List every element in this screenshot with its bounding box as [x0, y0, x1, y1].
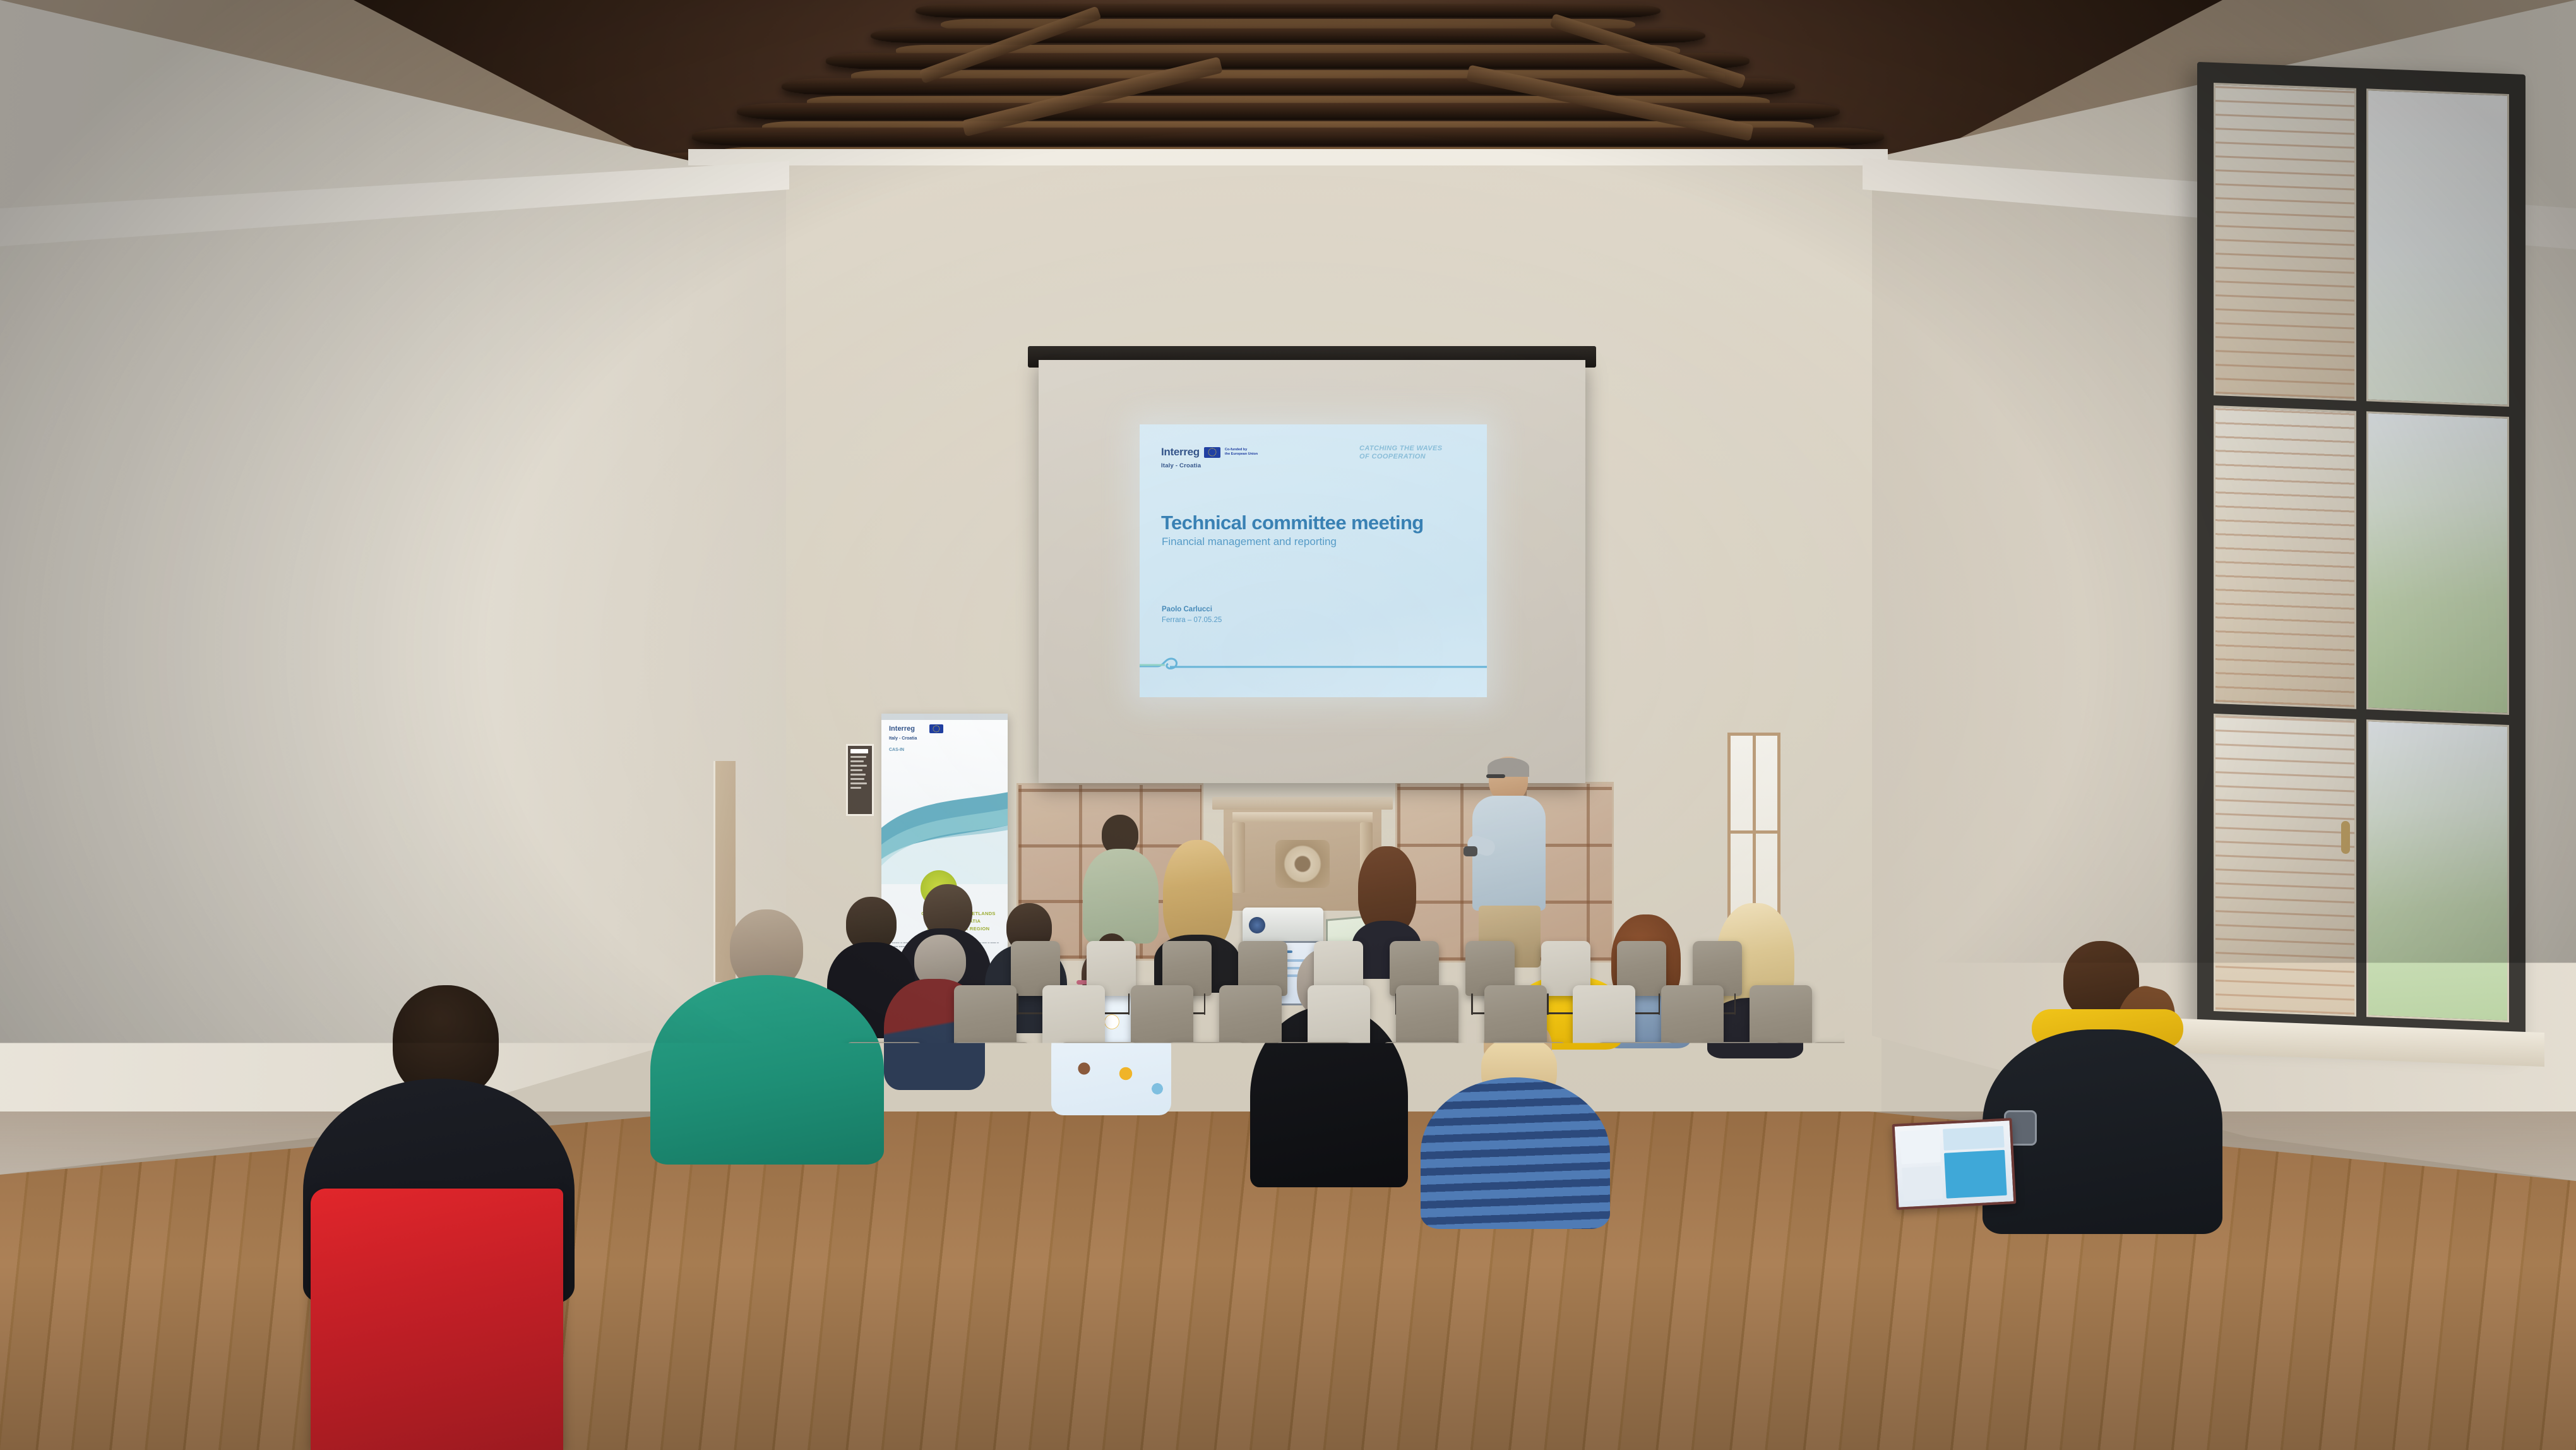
chair[interactable] [1360, 1301, 1494, 1450]
person-presenter [1471, 757, 1547, 965]
slide-tagline-line2: OF COOPERATION [1359, 453, 1473, 461]
slide-header: Interreg Co-funded by the European Union [1161, 446, 1258, 458]
chair-back [981, 1301, 1116, 1450]
chair-leg [1138, 1053, 1140, 1079]
cornice-back [688, 149, 1888, 165]
chair[interactable] [2118, 1301, 2252, 1450]
aedicula-architrave [1232, 812, 1373, 822]
chair[interactable] [1928, 1301, 2063, 1450]
rollup-eu-flag-icon [929, 724, 943, 733]
eu-flag-icon [1204, 447, 1220, 458]
rollup-brand: Interreg [889, 725, 915, 733]
chair-leg [1471, 993, 1473, 1014]
chair[interactable] [602, 1301, 737, 1450]
rollup-programme: Italy - Croatia [889, 736, 917, 741]
projection-screen: Interreg Co-funded by the European Union… [1039, 360, 1585, 783]
ceiling-beam-1 [915, 4, 1661, 18]
window-pane-1 [2214, 83, 2356, 401]
window-pane-2 [2366, 88, 2509, 407]
eu-funding-line1: Co-funded by [1225, 448, 1247, 452]
projector-lens-icon [1249, 917, 1265, 933]
chair-back [602, 1301, 737, 1450]
person-attendee-13b [2210, 1067, 2399, 1339]
aedicula-rosette [1275, 840, 1330, 888]
chair[interactable] [792, 1301, 926, 1450]
chair-back [2118, 1301, 2252, 1450]
window-pane-5 [2214, 714, 2356, 1017]
rollup-top-rail [881, 714, 1008, 720]
chair-leg [1802, 1053, 1804, 1079]
slide-author: Paolo Carlucci [1162, 606, 1212, 613]
slide-title: Technical committee meeting [1161, 512, 1424, 534]
window-pane-6 [2366, 719, 2509, 1022]
chair-leg [1049, 1053, 1051, 1079]
slide-interreg-logo: Interreg [1161, 446, 1200, 458]
slide-tagline-line1: CATCHING THE WAVES [1359, 445, 1473, 453]
projected-slide: Interreg Co-funded by the European Union… [1140, 424, 1487, 697]
presenter-glasses-icon [1486, 774, 1505, 778]
presentation-clicker[interactable] [1464, 846, 1477, 856]
chair-leg [1204, 993, 1206, 1014]
slide-place-date: Ferrara – 07.05.25 [1162, 616, 1222, 624]
person-attendee-7 [1083, 815, 1159, 941]
rollup-wave-graphic [881, 789, 1008, 884]
chair[interactable] [1549, 1301, 1684, 1450]
chair-leg [1128, 993, 1130, 1014]
plaque-title-line [850, 749, 868, 753]
chair-back [1928, 1301, 2063, 1450]
chair-back [413, 1301, 547, 1450]
chair-back [792, 1301, 926, 1450]
chair-leg [1017, 993, 1018, 1014]
slide-programme: Italy - Croatia [1161, 462, 1201, 469]
chair-back [1360, 1301, 1494, 1450]
chair[interactable] [1171, 1301, 1305, 1450]
person-attendee-13 [1983, 941, 2222, 1231]
conference-room-photo: Interreg Italy - Croatia CAS-IN GOVERNAN… [0, 0, 2576, 1450]
window-pane-4 [2366, 411, 2509, 714]
attendee-13b-jacket [2210, 1067, 2399, 1339]
attendee-7-shirt [1083, 849, 1159, 944]
window-pane-3 [2214, 405, 2356, 709]
slide-subtitle: Financial management and reporting [1162, 536, 1337, 548]
wall-plaque [846, 744, 874, 816]
aedicula-cornice [1212, 797, 1393, 810]
chair-leg [1580, 1053, 1582, 1079]
rollup-project-name: CAS-IN [889, 748, 904, 752]
slide-wave-graphic [1140, 656, 1487, 674]
ceiling-beam-4 [781, 78, 1795, 95]
chair-back [1549, 1301, 1684, 1450]
chair-leg [1659, 993, 1661, 1014]
chair-leg [1734, 993, 1736, 1014]
chair-leg [1272, 1053, 1273, 1079]
chair[interactable] [1739, 1301, 1873, 1450]
window-handle[interactable] [2341, 821, 2350, 854]
eu-funding-text: Co-funded by the European Union [1225, 448, 1258, 457]
chair-leg [1547, 993, 1549, 1014]
chair-back [1739, 1301, 1873, 1450]
large-window-panes [2214, 83, 2509, 1022]
eu-funding-line2: the European Union [1225, 452, 1258, 456]
chair[interactable] [413, 1301, 547, 1450]
chair-back [1171, 1301, 1305, 1450]
chair[interactable] [981, 1301, 1116, 1450]
chair-leg [1360, 1053, 1362, 1079]
